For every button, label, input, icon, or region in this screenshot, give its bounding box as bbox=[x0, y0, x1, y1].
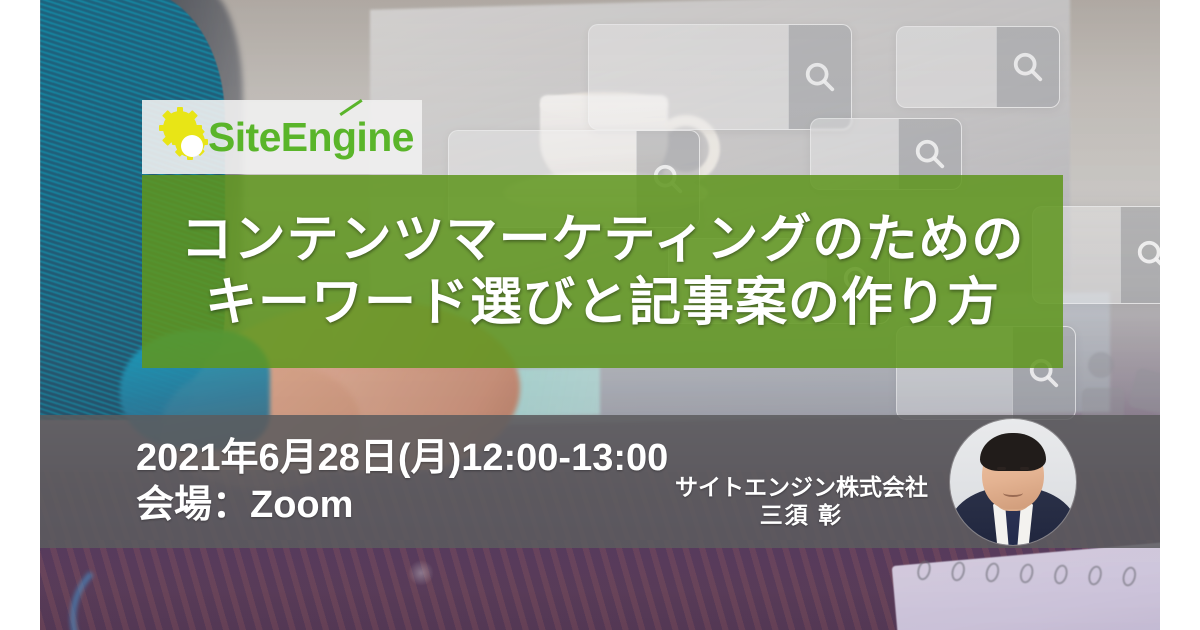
speaker-block: サイトエンジン株式会社 三須 彰 bbox=[675, 419, 1160, 545]
speaker-name: 三須 彰 bbox=[675, 502, 928, 530]
speaker-info: サイトエンジン株式会社 三須 彰 bbox=[675, 474, 928, 529]
event-details: 2021年6月28日(月)12:00-13:00 会場：Zoom bbox=[40, 437, 668, 526]
avatar-eye-right bbox=[1020, 467, 1029, 470]
event-datetime: 2021年6月28日(月)12:00-13:00 bbox=[136, 437, 668, 480]
webinar-banner: SiteEngine コンテンツマーケティングのための キーワード選びと記事案の… bbox=[0, 0, 1200, 630]
avatar-mouth bbox=[1003, 489, 1023, 497]
speaker-company: サイトエンジン株式会社 bbox=[675, 474, 928, 502]
title-line-2: キーワード選びと記事案の作り方 bbox=[205, 275, 1000, 331]
title-banner: コンテンツマーケティングのための キーワード選びと記事案の作り方 bbox=[142, 175, 1063, 368]
event-venue: 会場：Zoom bbox=[136, 484, 668, 527]
logo-wordmark: SiteEngine bbox=[208, 117, 414, 158]
event-info-bar: 2021年6月28日(月)12:00-13:00 会場：Zoom サイトエンジン… bbox=[40, 415, 1160, 548]
title-line-1: コンテンツマーケティングのための bbox=[181, 212, 1025, 268]
avatar-hair bbox=[980, 433, 1046, 471]
avatar-eye-left bbox=[997, 467, 1006, 470]
avatar bbox=[950, 419, 1076, 545]
logo-plate: SiteEngine bbox=[142, 100, 422, 174]
